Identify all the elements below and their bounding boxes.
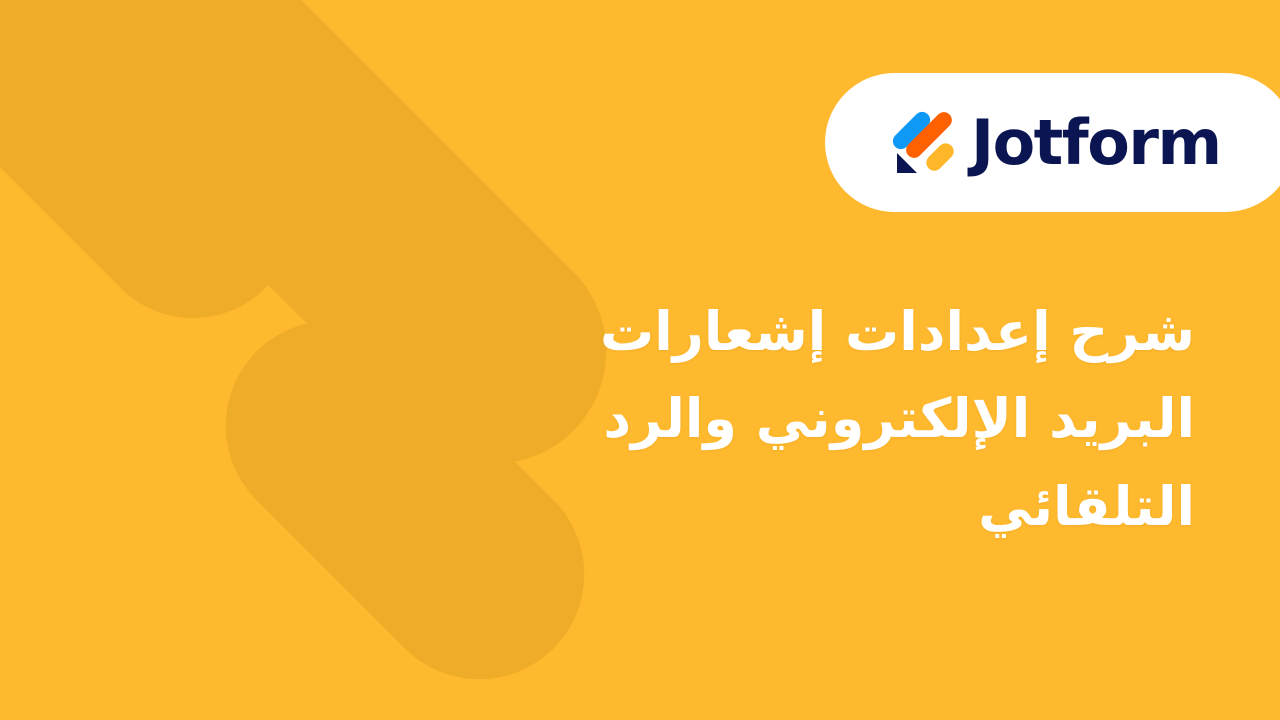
slide-canvas: Jotform شرح إعدادات إشعارات البريد الإلك…: [0, 0, 1280, 720]
jotform-logo-mark-icon: [893, 109, 957, 177]
brand-logo-panel: Jotform: [825, 73, 1280, 212]
page-title: شرح إعدادات إشعارات البريد الإلكتروني وا…: [595, 288, 1195, 550]
background-capsule-2: [0, 0, 653, 510]
jotform-wordmark: Jotform: [971, 112, 1221, 174]
background-capsule-1: [0, 0, 338, 360]
background-capsule-3: [182, 277, 627, 720]
